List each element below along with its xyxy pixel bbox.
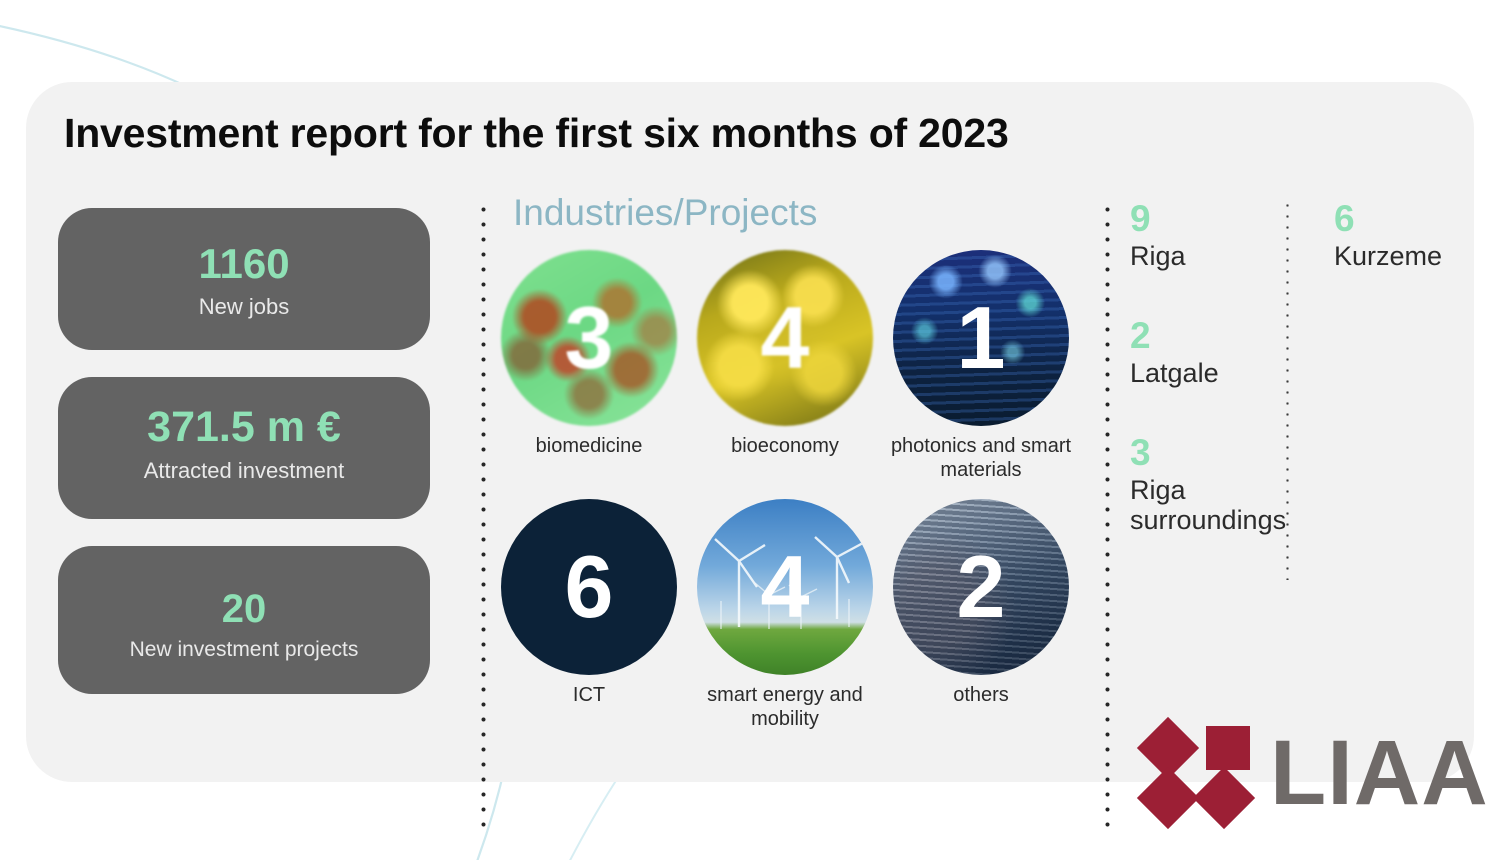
liaa-wordmark: LIAA: [1270, 727, 1489, 819]
industry-item-smart-energy: 4 smart energy and mobility: [687, 499, 883, 731]
stat-card-new-projects: 20 New investment projects: [58, 546, 430, 694]
industry-label: smart energy and mobility: [687, 684, 883, 731]
industry-item-bioeconomy: 4 bioeconomy: [687, 250, 883, 482]
region-item-riga: 9 Riga: [1130, 200, 1282, 271]
liaa-logo: LIAA: [1144, 722, 1489, 824]
industry-item-others: 2 others: [883, 499, 1079, 731]
regions-column-left: 9 Riga 2 Latgale 3 Riga surroundings: [1130, 200, 1282, 581]
industry-item-ict: 6 ICT: [491, 499, 687, 731]
fiber-optics-photo: 1: [893, 250, 1069, 426]
stat-value: 371.5 m €: [58, 405, 430, 450]
region-name: Latgale: [1130, 358, 1282, 388]
divider-regions-dotted: [1286, 200, 1289, 580]
region-count: 6: [1334, 200, 1500, 239]
key-stats-column: 1160 New jobs 371.5 m € Attracted invest…: [58, 208, 430, 694]
industries-heading: Industries/Projects: [513, 192, 1101, 234]
region-item-latgale: 2 Latgale: [1130, 317, 1282, 388]
divider-left-dotted: [481, 202, 486, 834]
industry-count: 1: [893, 250, 1069, 426]
industry-label: ICT: [491, 684, 687, 708]
liaa-diamond-icon: [1144, 722, 1252, 824]
industry-item-photonics: 1 photonics and smart materials: [883, 250, 1079, 482]
region-name: Riga: [1130, 241, 1282, 271]
industries-row-2: 6 ICT: [491, 499, 1101, 731]
stat-value: 20: [58, 588, 430, 630]
industry-label: biomedicine: [491, 435, 687, 459]
stat-card-attracted-investment: 371.5 m € Attracted investment: [58, 377, 430, 519]
coin-stacks-photo: 2: [893, 499, 1069, 675]
region-item-kurzeme: 6 Kurzeme: [1334, 200, 1500, 271]
biomedicine-photo: 3: [501, 250, 677, 426]
industry-label: others: [883, 684, 1079, 708]
region-name: Kurzeme: [1334, 241, 1500, 271]
region-item-riga-surroundings: 3 Riga surroundings: [1130, 434, 1282, 535]
wind-turbines-photo: 4: [697, 499, 873, 675]
region-count: 9: [1130, 200, 1282, 239]
stat-label: Attracted investment: [58, 458, 430, 484]
main-panel: Investment report for the first six mont…: [26, 82, 1474, 782]
industries-section: Industries/Projects 3 biomedicine 4 bioe…: [491, 192, 1101, 731]
region-count: 3: [1130, 434, 1282, 473]
stat-card-new-jobs: 1160 New jobs: [58, 208, 430, 350]
regions-column-right: 6 Kurzeme: [1282, 200, 1500, 581]
page-title: Investment report for the first six mont…: [64, 110, 1009, 157]
stat-value: 1160: [58, 242, 430, 286]
region-name: Riga surroundings: [1130, 475, 1282, 535]
stat-label: New investment projects: [58, 638, 430, 662]
industries-row-1: 3 biomedicine 4 bioeconomy 1 photonics a…: [491, 250, 1101, 482]
industry-label: bioeconomy: [687, 435, 883, 459]
regions-section: 9 Riga 2 Latgale 3 Riga surroundings 6: [1130, 200, 1500, 581]
page-background: Investment report for the first six mont…: [0, 0, 1500, 860]
industry-count: 2: [893, 499, 1069, 675]
industry-count: 6: [501, 499, 677, 675]
industry-count: 4: [697, 250, 873, 426]
divider-right-dotted: [1105, 202, 1110, 834]
industry-count: 4: [697, 499, 873, 675]
stat-label: New jobs: [58, 294, 430, 320]
industry-label: photonics and smart materials: [883, 435, 1079, 482]
circuit-board-photo: 6: [501, 499, 677, 675]
region-count: 2: [1130, 317, 1282, 356]
industry-count: 3: [501, 250, 677, 426]
rapeseed-flowers-photo: 4: [697, 250, 873, 426]
industry-item-biomedicine: 3 biomedicine: [491, 250, 687, 482]
